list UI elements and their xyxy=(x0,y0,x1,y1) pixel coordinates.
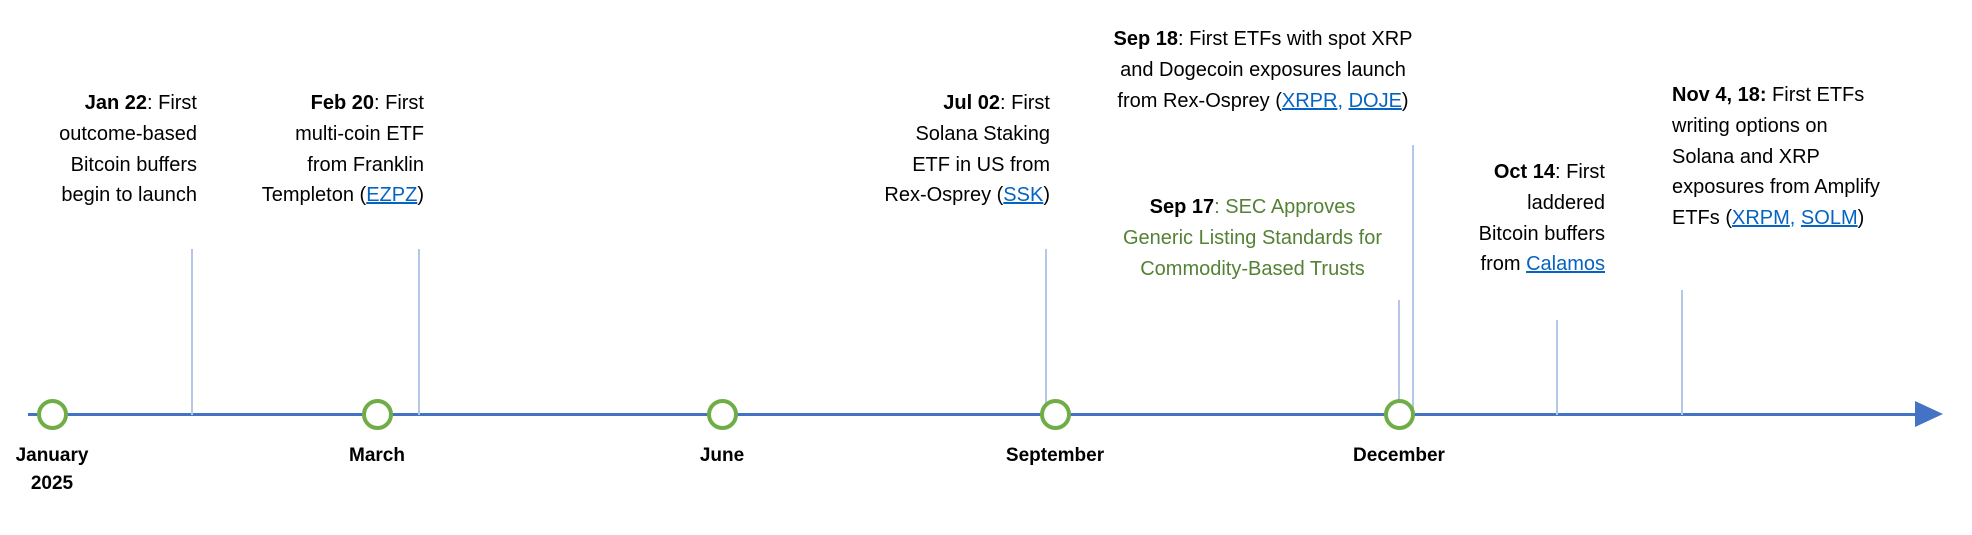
month-marker-december xyxy=(1384,399,1415,430)
event-line: Solana Staking xyxy=(860,119,1050,150)
ticker-link-doje[interactable]: DOJE xyxy=(1349,90,1402,112)
event-line: and Dogecoin exposures launch xyxy=(1068,55,1458,86)
event-text: : First xyxy=(1555,161,1605,183)
connector-stem-nov xyxy=(1681,290,1683,415)
month-marker-march xyxy=(362,399,393,430)
event-line: Templeton (EZPZ) xyxy=(238,180,424,211)
event-line: Sep 18: First ETFs with spot XRP xyxy=(1068,24,1458,55)
event-text: : First ETFs with spot XRP xyxy=(1178,28,1412,50)
event-line: ETF in US from xyxy=(860,150,1050,181)
ticker-link-ezpz[interactable]: EZPZ xyxy=(366,184,417,206)
connector-stem-sep17 xyxy=(1398,300,1400,415)
event-line: Feb 20: First xyxy=(238,88,424,119)
ticker-separator: , xyxy=(1337,90,1348,112)
timeline-arrow-icon xyxy=(1915,401,1943,427)
event-text: : First xyxy=(374,92,424,114)
event-text: from Rex-Osprey ( xyxy=(1117,90,1281,112)
event-line: exposures from Amplify xyxy=(1672,172,1962,203)
event-line: Bitcoin buffers xyxy=(20,150,197,181)
event-line: from Calamos xyxy=(1440,249,1605,280)
event-note-feb-20: Feb 20: First multi-coin ETF from Frankl… xyxy=(238,88,424,211)
event-line: ETFs (XRPM, SOLM) xyxy=(1672,203,1962,234)
ticker-link-xrpm[interactable]: XRPM xyxy=(1732,207,1790,229)
event-note-jan-22: Jan 22: First outcome-based Bitcoin buff… xyxy=(20,88,197,211)
event-text: ) xyxy=(1043,184,1050,206)
connector-stem-jul02 xyxy=(1045,249,1047,415)
connector-stem-jan22 xyxy=(191,249,193,415)
month-label-june: June xyxy=(700,442,744,470)
month-label-september: September xyxy=(1006,442,1104,470)
event-note-nov-4-18: Nov 4, 18: First ETFs writing options on… xyxy=(1672,80,1962,234)
event-line: Sep 17: SEC Approves xyxy=(1095,192,1410,223)
event-line: laddered xyxy=(1440,188,1605,219)
event-note-oct-14: Oct 14: First laddered Bitcoin buffers f… xyxy=(1440,157,1605,280)
timeline-infographic: January 2025 March June September Decemb… xyxy=(0,0,1972,535)
connector-stem-feb20 xyxy=(418,249,420,415)
event-line: begin to launch xyxy=(20,180,197,211)
event-text: ) xyxy=(1402,90,1409,112)
event-line: Oct 14: First xyxy=(1440,157,1605,188)
event-date-jul-02: Jul 02 xyxy=(943,92,1000,114)
event-text: Rex-Osprey ( xyxy=(884,184,1003,206)
event-line: multi-coin ETF xyxy=(238,119,424,150)
event-date-jan-22: Jan 22 xyxy=(85,92,147,114)
ticker-separator: , xyxy=(1790,207,1801,229)
event-line: Jul 02: First xyxy=(860,88,1050,119)
event-date-sep-18: Sep 18 xyxy=(1114,28,1178,50)
event-note-sep-17: Sep 17: SEC Approves Generic Listing Sta… xyxy=(1095,192,1410,284)
month-label-march: March xyxy=(349,442,405,470)
company-link-calamos[interactable]: Calamos xyxy=(1526,253,1605,275)
month-marker-september xyxy=(1040,399,1071,430)
event-text: from xyxy=(1481,253,1527,275)
event-date-oct-14: Oct 14 xyxy=(1494,161,1555,183)
month-label-december: December xyxy=(1353,442,1445,470)
event-line: Solana and XRP xyxy=(1672,142,1962,173)
ticker-link-xrpr[interactable]: XRPR xyxy=(1282,90,1338,112)
timeline-axis-line xyxy=(28,413,1918,416)
event-line: Commodity-Based Trusts xyxy=(1095,254,1410,285)
event-text: First ETFs xyxy=(1766,84,1864,106)
connector-stem-sep18 xyxy=(1412,145,1414,415)
event-line: Rex-Osprey (SSK) xyxy=(860,180,1050,211)
event-date-feb-20: Feb 20 xyxy=(311,92,374,114)
event-note-jul-02: Jul 02: First Solana Staking ETF in US f… xyxy=(860,88,1050,211)
event-date-sep-17: Sep 17 xyxy=(1150,196,1214,218)
event-text: : First xyxy=(1000,92,1050,114)
event-line: from Franklin xyxy=(238,150,424,181)
month-marker-june xyxy=(707,399,738,430)
ticker-link-ssk[interactable]: SSK xyxy=(1003,184,1043,206)
event-line: Jan 22: First xyxy=(20,88,197,119)
event-line: Bitcoin buffers xyxy=(1440,219,1605,250)
connector-stem-oct14 xyxy=(1556,320,1558,415)
event-line: Nov 4, 18: First ETFs xyxy=(1672,80,1962,111)
event-text: ) xyxy=(1858,207,1865,229)
event-line: writing options on xyxy=(1672,111,1962,142)
event-text: ETFs ( xyxy=(1672,207,1732,229)
event-note-sep-18: Sep 18: First ETFs with spot XRP and Dog… xyxy=(1068,24,1458,116)
event-text: : First xyxy=(147,92,197,114)
event-line: Generic Listing Standards for xyxy=(1095,223,1410,254)
event-date-nov-4-18: Nov 4, 18: xyxy=(1672,84,1766,106)
event-text: Templeton ( xyxy=(262,184,367,206)
event-text: : SEC Approves xyxy=(1214,196,1355,218)
month-marker-january xyxy=(37,399,68,430)
event-line: outcome-based xyxy=(20,119,197,150)
event-line: from Rex-Osprey (XRPR, DOJE) xyxy=(1068,86,1458,117)
month-label-january: January 2025 xyxy=(16,442,89,497)
ticker-link-solm[interactable]: SOLM xyxy=(1801,207,1858,229)
event-text: ) xyxy=(417,184,424,206)
